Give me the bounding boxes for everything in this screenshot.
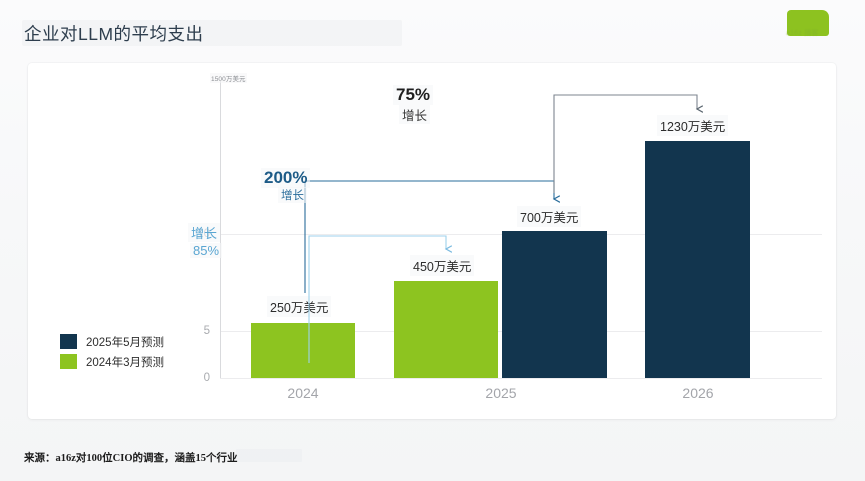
bar-value-2024-forecast-2024-03: 250万美元 [267, 296, 331, 317]
annotation-85-sublabel: 增长 [188, 223, 220, 242]
gridline-0 [220, 378, 822, 379]
source-note: 来源：a16z对100位CIO的调查，涵盖15个行业 [24, 450, 238, 465]
annotation-200-percent: 200% [261, 168, 310, 188]
bar-value-2025-forecast-2024-03: 450万美元 [410, 255, 474, 276]
legend-swatch-icon-green [60, 354, 77, 369]
bar-2025-forecast-2024-03[interactable] [394, 281, 498, 378]
bar-2024-forecast-2024-03[interactable] [251, 323, 355, 378]
y-tick-0: 0 [180, 372, 210, 384]
chart-card: 1500万美元 0 5 10 250万美元 450万美元 700万美元 1230… [28, 63, 836, 419]
annotation-75-sublabel: 增长 [399, 105, 430, 124]
bar-chart: 1500万美元 0 5 10 250万美元 450万美元 700万美元 1230… [28, 63, 836, 419]
slide-root: 企业对LLM的平均支出 a16z 播客 1500万美元 0 5 10 250万美… [0, 0, 865, 481]
y-axis-unit-label: 1500万美元 [210, 73, 247, 83]
annotation-75-percent: 75% [393, 85, 433, 105]
legend-swatch-icon-navy [60, 334, 77, 349]
legend-item-forecast-2024-03[interactable]: 2024年3月预测 [60, 353, 210, 370]
brand-logo: a16z 播客 [787, 10, 829, 37]
annotation-200-sublabel: 增长 [278, 187, 307, 203]
source-highlight-band [236, 449, 302, 462]
annotation-85-percent: 85% [190, 243, 222, 258]
legend-item-forecast-2025-05[interactable]: 2025年5月预测 [60, 333, 210, 350]
x-axis-label-2026: 2026 [638, 385, 758, 401]
bar-2025-forecast-2025-05[interactable] [502, 231, 607, 378]
chart-legend: 2025年5月预测 2024年3月预测 [60, 333, 210, 373]
x-axis-label-2024: 2024 [243, 385, 363, 401]
bar-value-2025-forecast-2025-05: 700万美元 [517, 206, 581, 227]
bar-value-2026-forecast-2025-05: 1230万美元 [657, 115, 728, 136]
logo-watermark-text: a16z 播客 [786, 28, 819, 38]
bar-2026-forecast-2025-05[interactable] [645, 141, 750, 378]
x-axis-label-2025: 2025 [441, 385, 561, 401]
page-title: 企业对LLM的平均支出 [24, 21, 204, 46]
legend-label-forecast-2025-05: 2025年5月预测 [86, 334, 164, 350]
legend-label-forecast-2024-03: 2024年3月预测 [86, 354, 164, 370]
y-axis-line [220, 81, 221, 378]
